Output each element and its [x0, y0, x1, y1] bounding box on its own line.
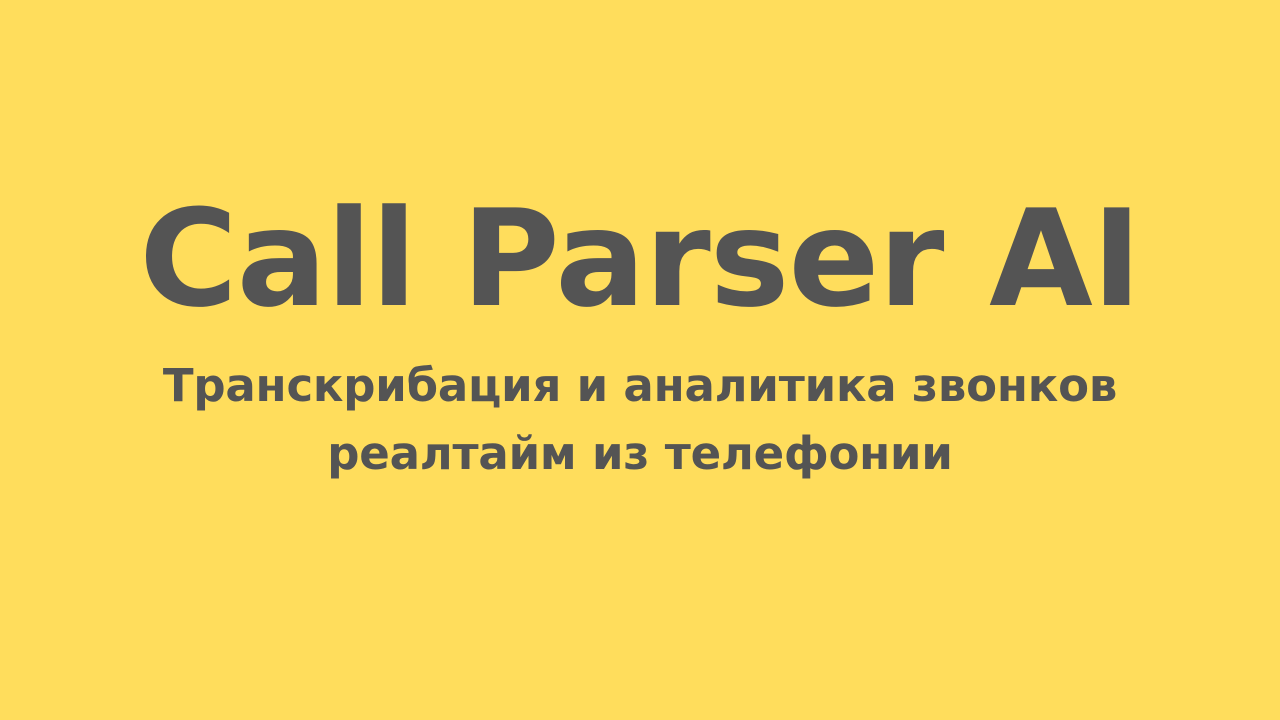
- subtitle-block: Транскрибация и аналитика звонков реалта…: [0, 352, 1280, 488]
- title-slide: Call Parser AI Транскрибация и аналитика…: [0, 0, 1280, 720]
- subtitle-line-1: Транскрибация и аналитика звонков: [0, 352, 1280, 420]
- subtitle-line-2: реалтайм из телефонии: [0, 420, 1280, 488]
- page-title: Call Parser AI: [0, 192, 1280, 326]
